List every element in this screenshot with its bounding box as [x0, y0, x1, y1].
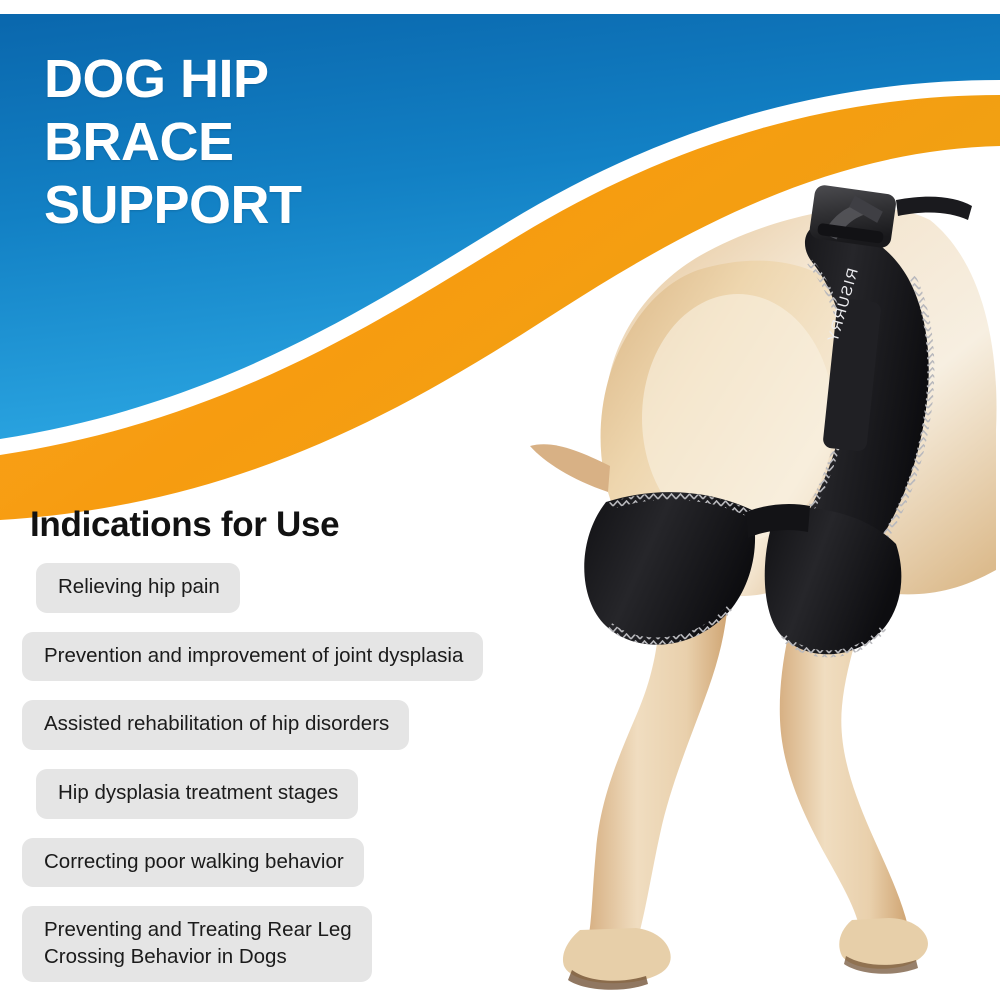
indications-list: Relieving hip pain Prevention and improv… — [22, 563, 512, 982]
indications-heading: Indications for Use — [30, 505, 339, 545]
dog-illustration: RISURRY — [460, 150, 1000, 1000]
product-photo: RISURRY — [460, 150, 1000, 1000]
headline-line-2: BRACE — [44, 111, 474, 174]
list-item: Relieving hip pain — [36, 563, 240, 613]
list-item: Hip dysplasia treatment stages — [36, 769, 358, 819]
list-item: Correcting poor walking behavior — [22, 838, 364, 888]
brace-thigh-wrap-left — [584, 492, 755, 645]
list-item: Preventing and Treating Rear Leg Crossin… — [22, 906, 372, 982]
brace-buckle — [808, 184, 897, 249]
headline-line-3: SUPPORT — [44, 174, 474, 237]
headline-line-1: DOG HIP — [44, 48, 474, 111]
dog-tail — [530, 444, 610, 492]
poster-canvas: DOG HIP BRACE SUPPORT — [0, 0, 1000, 1000]
list-item: Prevention and improvement of joint dysp… — [22, 632, 483, 682]
page-title: DOG HIP BRACE SUPPORT — [44, 48, 474, 238]
list-item: Assisted rehabilitation of hip disorders — [22, 700, 409, 750]
